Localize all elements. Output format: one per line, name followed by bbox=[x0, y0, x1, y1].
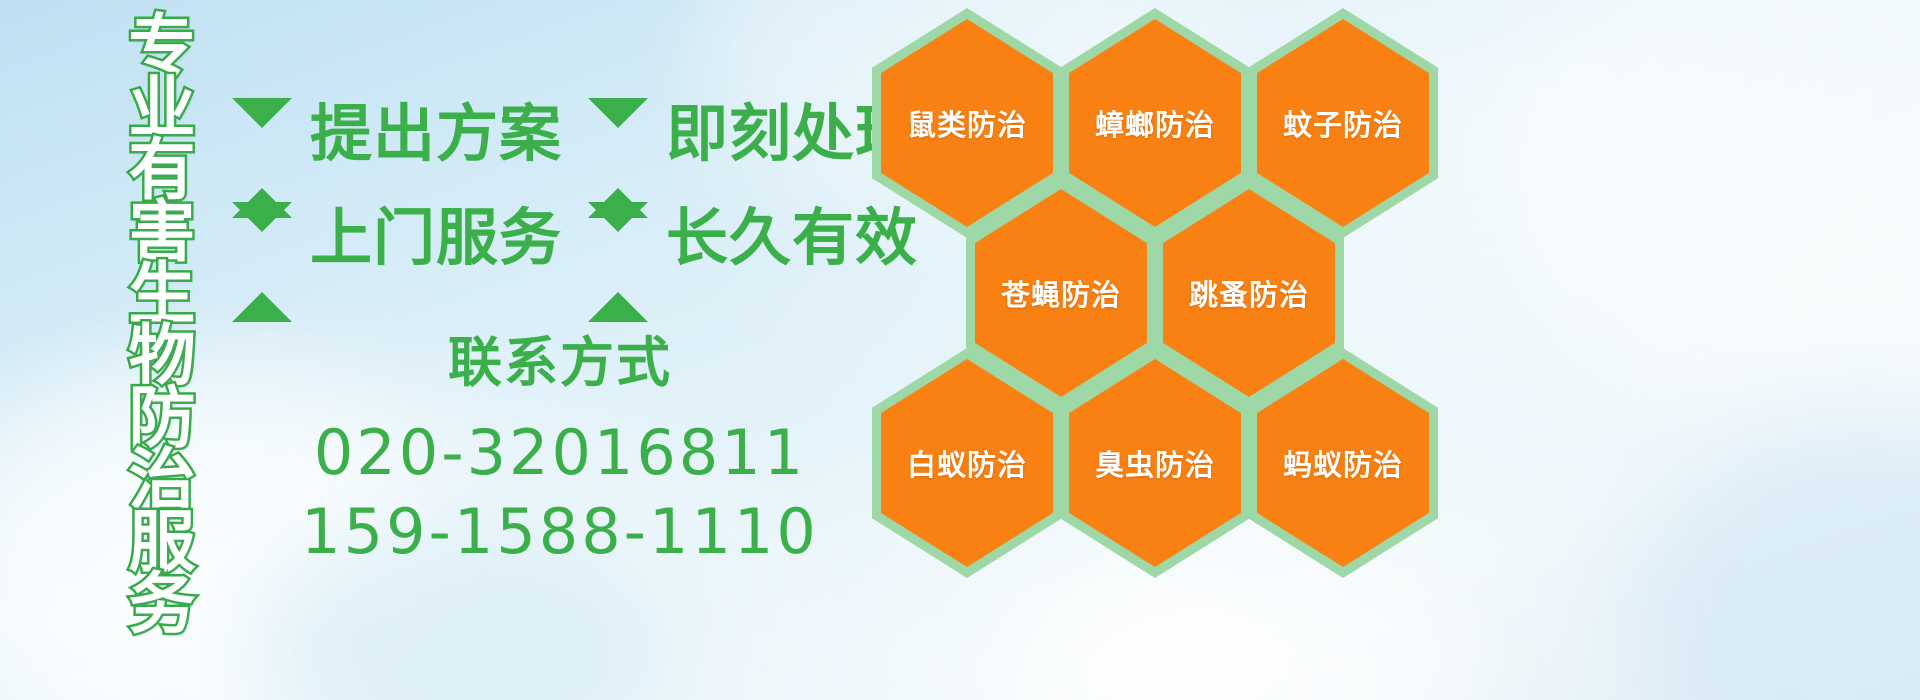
service-hex-label: 蚂蚁防治 bbox=[1283, 442, 1403, 484]
diamond-bullet-icon bbox=[588, 98, 648, 158]
background-blob bbox=[1500, 0, 1920, 430]
diamond-bullet-icon bbox=[232, 98, 292, 158]
service-hex-label: 蚊子防治 bbox=[1283, 102, 1403, 144]
feature-label: 上门服务 bbox=[310, 187, 562, 277]
headline-char: 服 bbox=[129, 512, 196, 574]
service-hex-label: 鼠类防治 bbox=[907, 102, 1027, 144]
contact-block: 联系方式 020-32016811 159-1588-1110 bbox=[300, 318, 820, 572]
vertical-headline: 专 业 有 害 生 物 防 治 服 务 bbox=[108, 16, 216, 576]
feature-list: 提出方案 即刻处理 上门服务 长久有效 bbox=[232, 76, 872, 284]
service-honeycomb: 鼠类防治 蟑螂防治 蚊子防治 苍蝇防治 跳蚤防治 白蚁防治 臭虫防治 bbox=[862, 0, 1462, 700]
contact-phone-mobile[interactable]: 159-1588-1110 bbox=[300, 492, 820, 571]
headline-char: 专 bbox=[129, 16, 196, 78]
feature-row: 提出方案 即刻处理 bbox=[232, 76, 872, 180]
contact-title: 联系方式 bbox=[300, 318, 820, 397]
service-hex-label: 苍蝇防治 bbox=[1001, 272, 1121, 314]
pest-control-banner: 专 业 有 害 生 物 防 治 服 务 提出方案 即刻处理 上门服务 bbox=[0, 0, 1920, 700]
headline-char: 生 bbox=[129, 264, 196, 326]
headline-char: 物 bbox=[129, 326, 196, 388]
headline-char: 有 bbox=[129, 140, 196, 202]
headline-char: 害 bbox=[129, 202, 196, 264]
service-hex-label: 跳蚤防治 bbox=[1189, 272, 1309, 314]
service-hex-label: 臭虫防治 bbox=[1095, 442, 1215, 484]
feature-label: 提出方案 bbox=[310, 83, 562, 173]
headline-char: 务 bbox=[129, 574, 196, 636]
service-hex-label: 蟑螂防治 bbox=[1095, 102, 1215, 144]
headline-char: 治 bbox=[129, 450, 196, 512]
headline-char: 业 bbox=[129, 78, 196, 140]
service-hex-label: 白蚁防治 bbox=[907, 442, 1027, 484]
background-blob bbox=[1640, 420, 1920, 700]
headline-char: 防 bbox=[129, 388, 196, 450]
feature-row: 上门服务 长久有效 bbox=[232, 180, 872, 284]
feature-item: 提出方案 bbox=[232, 83, 562, 173]
contact-phone-landline[interactable]: 020-32016811 bbox=[300, 413, 820, 492]
